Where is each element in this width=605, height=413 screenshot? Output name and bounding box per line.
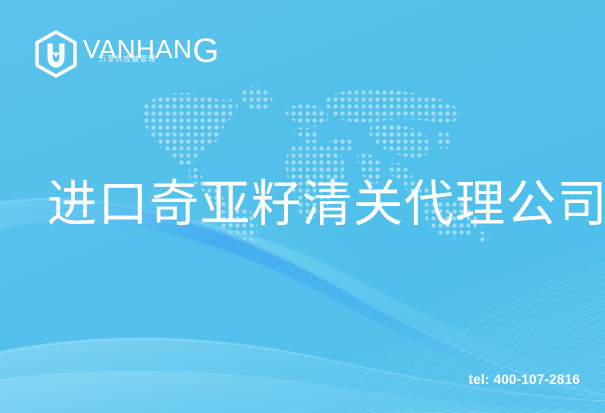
- brand-logo[interactable]: VANHANG 万享供应链管理: [33, 30, 219, 78]
- logo-wordmark-g: G: [192, 32, 218, 70]
- promo-banner: VANHANG 万享供应链管理 进口奇亚籽清关代理公司 tel: 400-107…: [0, 0, 605, 413]
- logo-subtitle: 万享供应链管理: [99, 54, 156, 64]
- line-texture: [275, 263, 605, 413]
- page-title: 进口奇亚籽清关代理公司: [47, 176, 605, 232]
- contact-phone[interactable]: tel: 400-107-2816: [469, 372, 580, 387]
- logo-wordmark-wrap: VANHANG 万享供应链管理: [83, 34, 219, 74]
- hexagon-v-logo-icon: [33, 30, 79, 78]
